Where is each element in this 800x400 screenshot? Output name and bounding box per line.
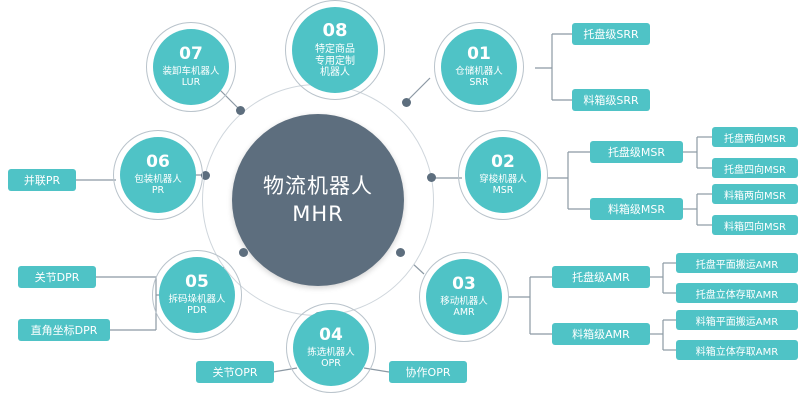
node-05-label: 拆码垛机器人 PDR (168, 295, 225, 317)
node-01-number: 01 (467, 45, 491, 65)
node-04[interactable]: 04 拣选机器人 OPR (293, 310, 369, 386)
box-msr-bin[interactable]: 料箱级MSR (590, 198, 683, 220)
node-01-label: 仓储机器人 SRR (455, 67, 503, 89)
ring-dot-07 (236, 106, 245, 115)
ring-dot-05 (239, 248, 248, 257)
node-06-number: 06 (146, 153, 170, 173)
diagram-canvas: 物流机器人 MHR 08 特定商品 专用定制 机器人 07 装卸车机器人 LUR… (0, 0, 800, 400)
node-07-label: 装卸车机器人 LUR (162, 67, 219, 89)
node-04-number: 04 (319, 326, 343, 346)
node-06-label: 包装机器人 PR (134, 175, 182, 197)
node-05-number: 05 (185, 273, 209, 293)
box-amr-bin-3d[interactable]: 料箱立体存取AMR (676, 340, 798, 360)
node-08-label: 特定商品 专用定制 机器人 (315, 44, 355, 79)
ring-dot-02 (427, 173, 436, 182)
box-srr-bin[interactable]: 料箱级SRR (572, 89, 650, 111)
node-07[interactable]: 07 装卸车机器人 LUR (153, 29, 229, 105)
ring-dot-01 (402, 98, 411, 107)
node-02[interactable]: 02 穿梭机器人 MSR (465, 137, 541, 213)
box-amr-pallet[interactable]: 托盘级AMR (552, 266, 650, 288)
ring-dot-03 (396, 248, 405, 257)
node-04-label: 拣选机器人 OPR (307, 348, 355, 370)
box-pr-parallel[interactable]: 并联PR (8, 169, 76, 191)
hub-title-line1: 物流机器人 (263, 172, 373, 200)
hub-title-line2: MHR (292, 200, 344, 228)
node-01[interactable]: 01 仓储机器人 SRR (441, 29, 517, 105)
node-07-number: 07 (179, 45, 203, 65)
box-msr-pallet-two-way[interactable]: 托盘两向MSR (712, 127, 798, 147)
box-amr-bin[interactable]: 料箱级AMR (552, 323, 650, 345)
box-amr-bin-planar[interactable]: 料箱平面搬运AMR (676, 310, 798, 330)
box-msr-pallet-four-way[interactable]: 托盘四向MSR (712, 158, 798, 178)
box-dpr-cartesian[interactable]: 直角坐标DPR (18, 319, 110, 341)
box-opr-articulated[interactable]: 关节OPR (196, 361, 274, 383)
box-msr-bin-two-way[interactable]: 料箱两向MSR (712, 184, 798, 204)
node-03-number: 03 (452, 275, 476, 295)
box-msr-pallet[interactable]: 托盘级MSR (590, 141, 683, 163)
node-06[interactable]: 06 包装机器人 PR (120, 137, 196, 213)
hub-center: 物流机器人 MHR (232, 114, 404, 286)
node-03-label: 移动机器人 AMR (440, 297, 488, 319)
box-msr-bin-four-way[interactable]: 料箱四向MSR (712, 215, 798, 235)
box-amr-pallet-3d[interactable]: 托盘立体存取AMR (676, 283, 798, 303)
box-amr-pallet-planar[interactable]: 托盘平面搬运AMR (676, 253, 798, 273)
node-03[interactable]: 03 移动机器人 AMR (426, 259, 502, 335)
node-05[interactable]: 05 拆码垛机器人 PDR (159, 257, 235, 333)
box-srr-pallet[interactable]: 托盘级SRR (572, 23, 650, 45)
box-opr-collaborative[interactable]: 协作OPR (389, 361, 467, 383)
node-02-label: 穿梭机器人 MSR (479, 175, 527, 197)
box-dpr-articulated[interactable]: 关节DPR (18, 266, 96, 288)
node-08-number: 08 (322, 21, 347, 42)
node-08[interactable]: 08 特定商品 专用定制 机器人 (292, 7, 378, 93)
node-02-number: 02 (491, 153, 515, 173)
